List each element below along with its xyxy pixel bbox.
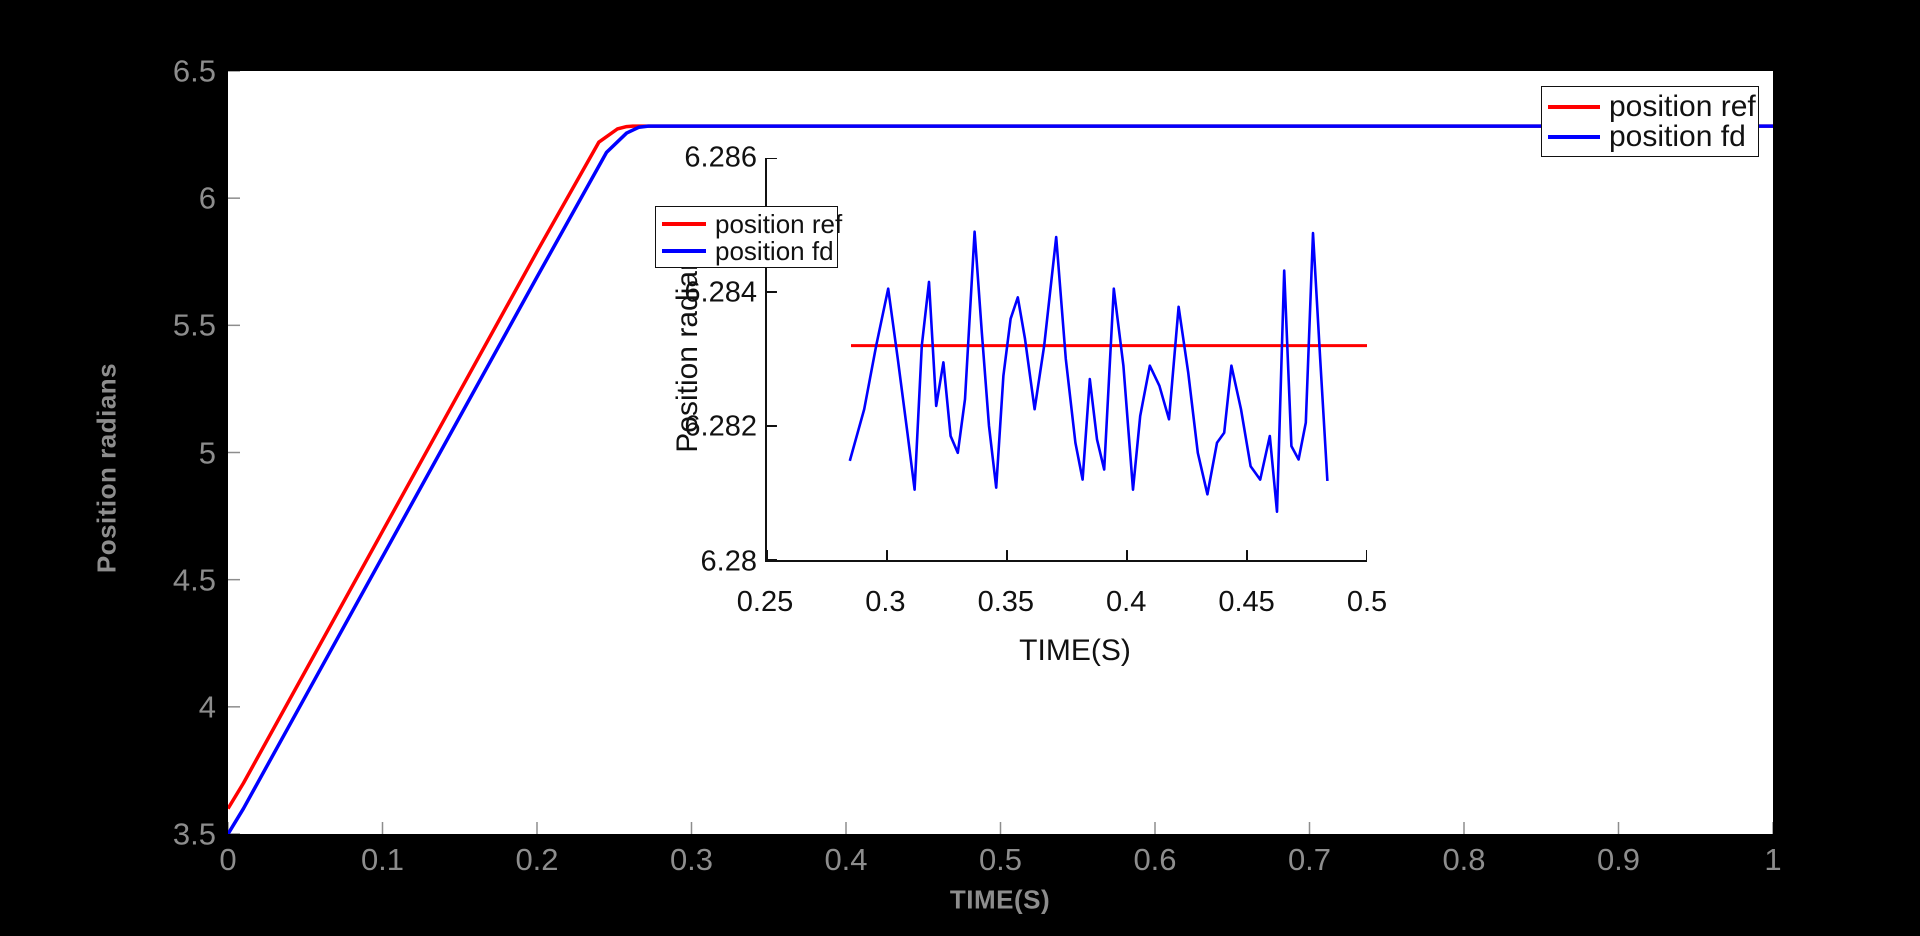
legend-label-position-ref: position ref bbox=[1609, 92, 1756, 122]
main-plot-xtick-label: 0.7 bbox=[1288, 844, 1331, 875]
main-legend[interactable]: position ref position fd bbox=[1541, 86, 1759, 157]
inset-legend-entry-position-fd[interactable]: position fd bbox=[662, 238, 831, 264]
main-plot-xtick-label: 0.5 bbox=[979, 844, 1022, 875]
main-plot-xtick-label: 0.8 bbox=[1442, 844, 1485, 875]
main-plot-xtick-label: 0.1 bbox=[361, 844, 404, 875]
main-x-axis-title: TIME(S) bbox=[950, 885, 1050, 916]
inset-xtick-marks bbox=[767, 550, 1367, 560]
inset-legend-label-position-ref: position ref bbox=[715, 211, 842, 237]
main-xtick-marks bbox=[228, 822, 1773, 834]
inset-legend[interactable]: position ref position fd bbox=[655, 206, 838, 268]
inset-y-axis-title: Position radians bbox=[671, 239, 705, 452]
main-plot-xtick-label: 0.2 bbox=[515, 844, 558, 875]
main-plot-ytick-label: 5.5 bbox=[173, 310, 216, 341]
inset-series-position-fd bbox=[850, 232, 1328, 512]
inset-x-axis-title: TIME(S) bbox=[1019, 634, 1131, 668]
main-plot-ytick-label: 5 bbox=[199, 437, 216, 468]
inset-plot-axes bbox=[765, 158, 1367, 562]
figure-canvas: 3.544.555.566.5 00.10.20.30.40.50.60.70.… bbox=[0, 0, 1920, 936]
inset-plot-ytick-label: 6.286 bbox=[684, 144, 757, 173]
inset-legend-label-position-fd: position fd bbox=[715, 238, 834, 264]
inset-legend-swatch-red bbox=[662, 222, 706, 226]
main-y-axis-title: Position radians bbox=[92, 363, 123, 573]
main-plot-ytick-label: 4.5 bbox=[173, 564, 216, 595]
main-ytick-marks bbox=[228, 71, 240, 834]
legend-swatch-blue bbox=[1548, 135, 1600, 139]
main-plot-xtick-label: 0.9 bbox=[1597, 844, 1640, 875]
main-plot-ytick-label: 3.5 bbox=[173, 819, 216, 850]
inset-legend-swatch-blue bbox=[662, 249, 706, 253]
main-plot-xtick-label: 0.6 bbox=[1133, 844, 1176, 875]
main-plot-xtick-label: 1 bbox=[1764, 844, 1781, 875]
main-plot-xtick-label: 0.3 bbox=[670, 844, 713, 875]
legend-swatch-red bbox=[1548, 105, 1600, 109]
main-plot-xtick-label: 0 bbox=[219, 844, 236, 875]
main-plot-ytick-label: 6 bbox=[199, 183, 216, 214]
main-plot-ytick-label: 4 bbox=[199, 691, 216, 722]
inset-legend-entry-position-ref[interactable]: position ref bbox=[662, 211, 831, 237]
main-plot-xtick-label: 0.4 bbox=[824, 844, 867, 875]
inset-plot-svg bbox=[767, 158, 1367, 560]
main-plot-ytick-label: 6.5 bbox=[173, 56, 216, 87]
legend-entry-position-fd[interactable]: position fd bbox=[1548, 122, 1750, 152]
legend-label-position-fd: position fd bbox=[1609, 122, 1746, 152]
legend-entry-position-ref[interactable]: position ref bbox=[1548, 92, 1750, 122]
